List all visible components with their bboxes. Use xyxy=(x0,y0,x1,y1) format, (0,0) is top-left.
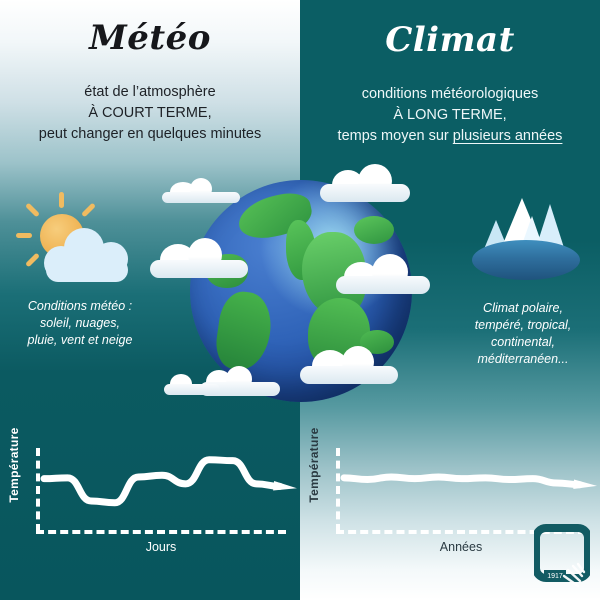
cloud-icon xyxy=(318,164,414,204)
subtitle-climate: conditions météorologiques À LONG TERME,… xyxy=(305,84,595,147)
caption-weather-line2: soleil, nuages, xyxy=(0,315,160,332)
cloud-icon xyxy=(334,254,432,296)
caption-climate-line4: méditerranéen... xyxy=(448,351,598,368)
rounded-square-hand-logo[interactable]: 1917 xyxy=(534,524,590,590)
landmass xyxy=(213,289,275,373)
iceberg-base xyxy=(472,240,580,280)
caption-climate: Climat polaire, tempéré, tropical, conti… xyxy=(448,300,598,368)
sun-ray xyxy=(59,192,64,208)
earth-globe-illustration xyxy=(168,170,432,420)
iceberg-icon xyxy=(472,196,580,282)
page-title-weather: Météo xyxy=(0,18,300,58)
subtitle-weather-line3: peut changer en quelques minutes xyxy=(5,124,295,145)
weather-chart-curve xyxy=(30,440,300,540)
sun-ray xyxy=(25,253,40,268)
logo-mark-text: 1917 xyxy=(547,573,563,580)
caption-weather: Conditions météo : soleil, nuages, pluie… xyxy=(0,298,160,349)
subtitle-weather: état de l’atmosphère À COURT TERME, peut… xyxy=(5,82,295,145)
subtitle-climate-emphasis: plusieurs années xyxy=(453,128,563,144)
landmass xyxy=(354,216,394,244)
sun-cloud-icon xyxy=(14,192,132,284)
caption-weather-line1: Conditions météo : xyxy=(0,298,160,315)
subtitle-climate-line3-prefix: temps moyen sur xyxy=(338,128,453,144)
cloud-icon xyxy=(162,370,224,396)
infographic-root: Météo Climat état de l’atmosphère À COUR… xyxy=(0,0,600,600)
caption-climate-line2: tempéré, tropical, xyxy=(448,317,598,334)
subtitle-climate-line1: conditions météorologiques xyxy=(305,84,595,105)
sun-ray xyxy=(16,233,32,238)
page-title-climate: Climat xyxy=(300,20,600,60)
caption-weather-line3: pluie, vent et neige xyxy=(0,332,160,349)
weather-chart-ylabel: Température xyxy=(7,423,21,507)
cloud-shape xyxy=(44,226,130,282)
sun-ray xyxy=(81,203,96,218)
sun-ray xyxy=(25,203,40,218)
weather-chart: Température Jours xyxy=(0,440,300,570)
subtitle-climate-line3: temps moyen sur plusieurs années xyxy=(305,126,595,147)
subtitle-weather-line1: état de l’atmosphère xyxy=(5,82,295,103)
caption-climate-line1: Climat polaire, xyxy=(448,300,598,317)
subtitle-weather-line2: À COURT TERME, xyxy=(5,103,295,124)
cloud-icon xyxy=(148,238,252,280)
cloud-icon xyxy=(298,344,402,386)
subtitle-climate-line2: À LONG TERME, xyxy=(305,105,595,126)
cloud-icon xyxy=(160,178,246,204)
climate-chart-ylabel: Température xyxy=(307,423,321,507)
caption-climate-line3: continental, xyxy=(448,334,598,351)
weather-chart-xlabel: Jours xyxy=(36,540,286,554)
